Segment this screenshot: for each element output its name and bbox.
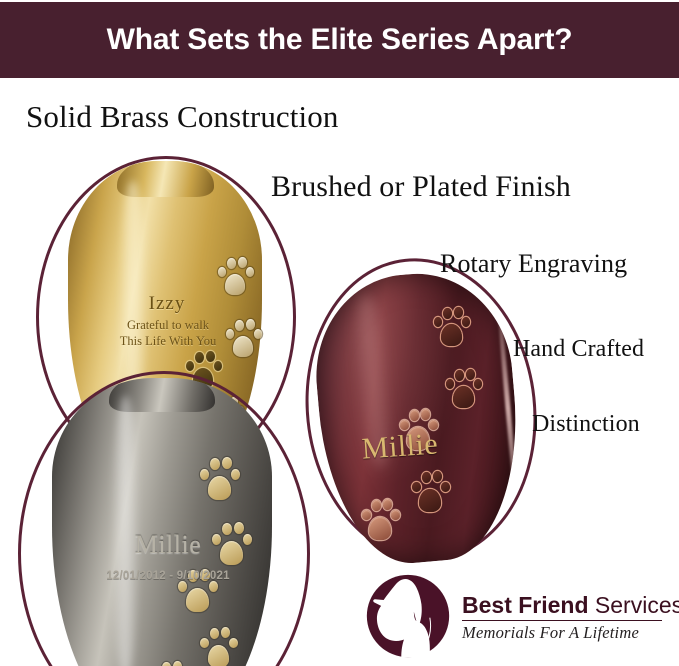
paw-toe — [422, 472, 431, 483]
paw-toe — [383, 499, 392, 510]
paw-toe — [200, 469, 209, 480]
maroon-urn-highlight — [348, 294, 398, 469]
paw-print-icon — [434, 306, 468, 346]
paw-print-icon — [400, 408, 436, 450]
paw-toe — [466, 369, 475, 380]
paw-toe — [362, 510, 371, 520]
paw-toe — [434, 317, 442, 327]
paw-toe — [195, 352, 204, 363]
paw-pad — [208, 476, 231, 500]
paw-toe — [246, 267, 254, 277]
paw-toe — [443, 308, 452, 319]
paw-toe — [410, 410, 419, 421]
paw-toe — [188, 570, 198, 582]
paw-toe — [227, 258, 236, 269]
brand-logo: Best Friend Services® Memorials For A Li… — [366, 572, 666, 660]
paw-toe — [254, 329, 262, 339]
paw-toe — [221, 627, 230, 638]
paw-toe — [212, 534, 221, 545]
dog-and-cat-logo-icon — [366, 574, 450, 658]
paw-pad — [441, 324, 462, 346]
paw-toe — [210, 628, 219, 639]
paw-print-icon — [212, 521, 250, 566]
paw-print-icon — [200, 456, 238, 501]
paw-pad — [369, 517, 391, 540]
logo-brand-line: Best Friend Services® — [462, 593, 679, 617]
feature-brushed-or-plated-finish: Brushed or Plated Finish — [271, 170, 571, 204]
logo-brand-light: Services — [589, 592, 679, 618]
paw-toe — [234, 522, 244, 534]
paw-toe — [246, 319, 255, 330]
paw-print-icon — [218, 256, 252, 296]
paw-pad — [220, 541, 243, 565]
paw-print-icon — [152, 658, 188, 666]
logo-divider — [462, 620, 662, 622]
logo-brand-bold: Best Friend — [462, 592, 589, 618]
paw-toe — [229, 638, 238, 648]
paw-toe — [446, 379, 454, 389]
header-banner: What Sets the Elite Series Apart? — [0, 2, 679, 78]
paw-pad — [453, 386, 474, 408]
paw-toe — [178, 581, 187, 592]
paw-toe — [162, 662, 171, 666]
paw-toe — [222, 523, 232, 535]
paw-toe — [222, 457, 232, 469]
paw-toe — [441, 482, 450, 492]
paw-toe — [231, 469, 240, 480]
paw-toe — [372, 500, 381, 511]
paw-toe — [412, 482, 421, 492]
paw-pad — [208, 645, 229, 666]
paw-toe — [218, 267, 226, 277]
paw-pad — [225, 274, 245, 295]
paw-pad — [407, 427, 429, 450]
product-feature-graphic: What Sets the Elite Series Apart? — [0, 0, 679, 666]
paw-print-icon — [226, 318, 260, 358]
feature-hand-crafted: Hand Crafted — [513, 336, 644, 363]
paw-toe — [186, 361, 194, 371]
paw-print-icon — [412, 470, 448, 512]
paw-toe — [200, 569, 210, 581]
paw-toe — [173, 661, 182, 666]
paw-toe — [421, 409, 430, 420]
feature-solid-brass-construction: Solid Brass Construction — [26, 99, 338, 135]
paw-toe — [226, 329, 234, 339]
paw-toe — [206, 351, 215, 362]
paw-toe — [210, 458, 220, 470]
paw-toe — [200, 638, 209, 648]
paw-pad — [419, 489, 441, 512]
paw-toe — [243, 534, 252, 545]
paw-pad — [186, 588, 209, 612]
logo-tagline: Memorials For A Lifetime — [462, 623, 679, 643]
paw-toe — [400, 420, 409, 430]
paw-print-icon — [178, 568, 216, 613]
paw-toe — [454, 307, 463, 318]
paw-toe — [235, 320, 244, 331]
paw-toe — [474, 379, 482, 389]
paw-toe — [433, 471, 442, 482]
feature-distinction: Distinction — [532, 411, 640, 438]
paw-print-icon — [446, 368, 480, 408]
paw-pad — [233, 336, 253, 357]
logo-wordmark: Best Friend Services® Memorials For A Li… — [462, 589, 679, 644]
paw-toe — [209, 581, 218, 592]
paw-toe — [391, 510, 400, 520]
paw-toe — [214, 361, 222, 371]
paw-toe — [462, 317, 470, 327]
paw-print-icon — [200, 626, 236, 666]
page-title: What Sets the Elite Series Apart? — [107, 23, 573, 57]
paw-toe — [455, 370, 464, 381]
feature-rotary-engraving: Rotary Engraving — [440, 249, 627, 279]
paw-toe — [429, 420, 438, 430]
paw-print-icon — [362, 498, 398, 540]
paw-toe — [238, 257, 247, 268]
